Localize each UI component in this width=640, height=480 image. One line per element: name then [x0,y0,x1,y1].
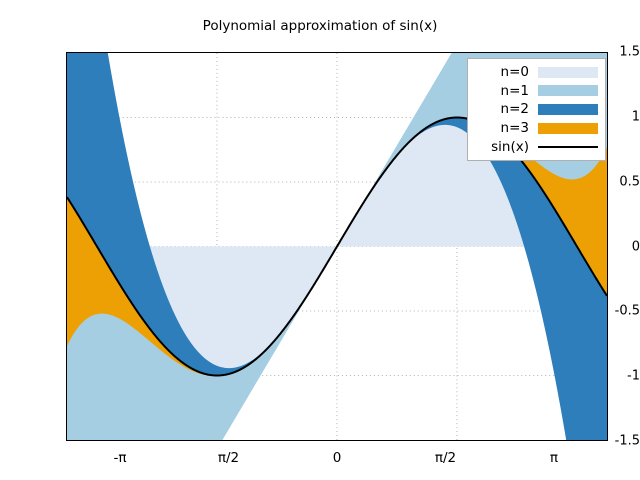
legend-label: n=0 [501,64,538,80]
legend-line-sinx [538,141,598,152]
x-tick-label: π/2 [218,450,239,466]
legend-label: sin(x) [491,139,538,155]
x-tick-label: -π [114,450,127,466]
legend-item[interactable]: n=0 [473,63,598,82]
x-tick-label: π [550,450,558,466]
legend-item[interactable]: n=3 [473,119,598,138]
legend-swatch-n1 [538,85,598,96]
legend-swatch-n0 [538,67,598,78]
legend-label: n=3 [501,120,538,136]
chart-legend: n=0 n=1 n=2 n=3 sin(x) [467,58,606,161]
x-tick-label: 0 [333,450,342,466]
legend-label: n=2 [501,101,538,117]
chart-title: Polynomial approximation of sin(x) [0,18,640,34]
legend-swatch-n2 [538,104,598,115]
chart-figure: Polynomial approximation of sin(x) 1.5 1… [0,0,640,480]
legend-swatch-n3 [538,123,598,134]
x-tick-label: π/2 [435,450,456,466]
legend-item[interactable]: n=1 [473,82,598,101]
legend-item[interactable]: sin(x) [473,137,598,156]
legend-item[interactable]: n=2 [473,100,598,119]
legend-label: n=1 [501,83,538,99]
